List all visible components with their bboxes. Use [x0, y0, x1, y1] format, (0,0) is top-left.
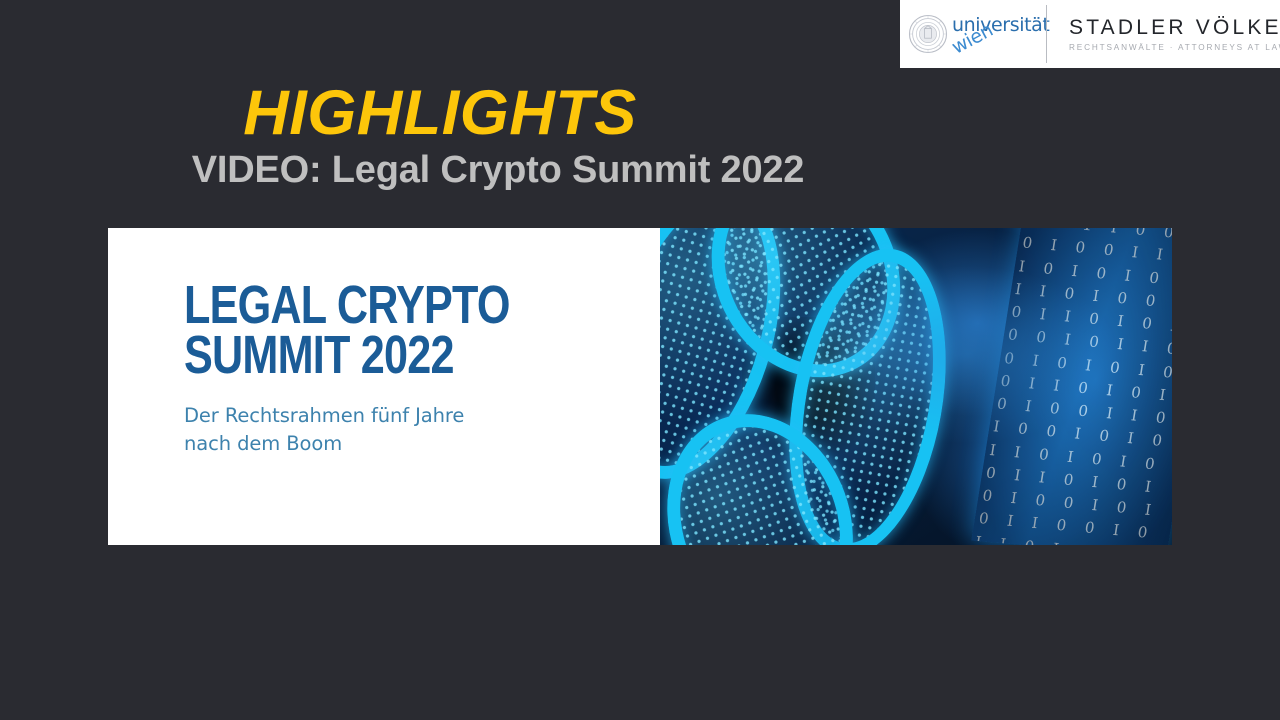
banner-title: LEGAL CRYPTO SUMMIT 2022	[184, 280, 565, 380]
page-subtitle: VIDEO: Legal Crypto Summit 2022	[108, 150, 888, 192]
event-banner-card[interactable]: LEGAL CRYPTO SUMMIT 2022 Der Rechtsrahme…	[108, 228, 1172, 545]
stadler-voelkel-logo: STADLER VÖLKEL RECHTSANWÄLTE · ATTORNEYS…	[1047, 16, 1280, 52]
university-seal-icon	[908, 14, 948, 54]
banner-artwork: 0 0 1 I 0 0 I 0 I 0 0 I I 0 I 0 I 0 I 0 …	[660, 228, 1172, 545]
banner-subtitle: Der Rechtsrahmen fünf Jahre nach dem Boo…	[184, 402, 660, 457]
university-of-vienna-logo: universität wien	[900, 0, 1046, 68]
banner-text-panel: LEGAL CRYPTO SUMMIT 2022 Der Rechtsrahme…	[108, 228, 660, 545]
university-wordmark: universität wien	[952, 17, 1049, 52]
logo-band: universität wien STADLER VÖLKEL RECHTSAN…	[900, 0, 1280, 68]
law-firm-name: STADLER VÖLKEL	[1069, 16, 1280, 40]
page-title: HIGHLIGHTS	[0, 82, 880, 145]
law-firm-tagline: RECHTSANWÄLTE · ATTORNEYS AT LAW	[1069, 43, 1280, 52]
